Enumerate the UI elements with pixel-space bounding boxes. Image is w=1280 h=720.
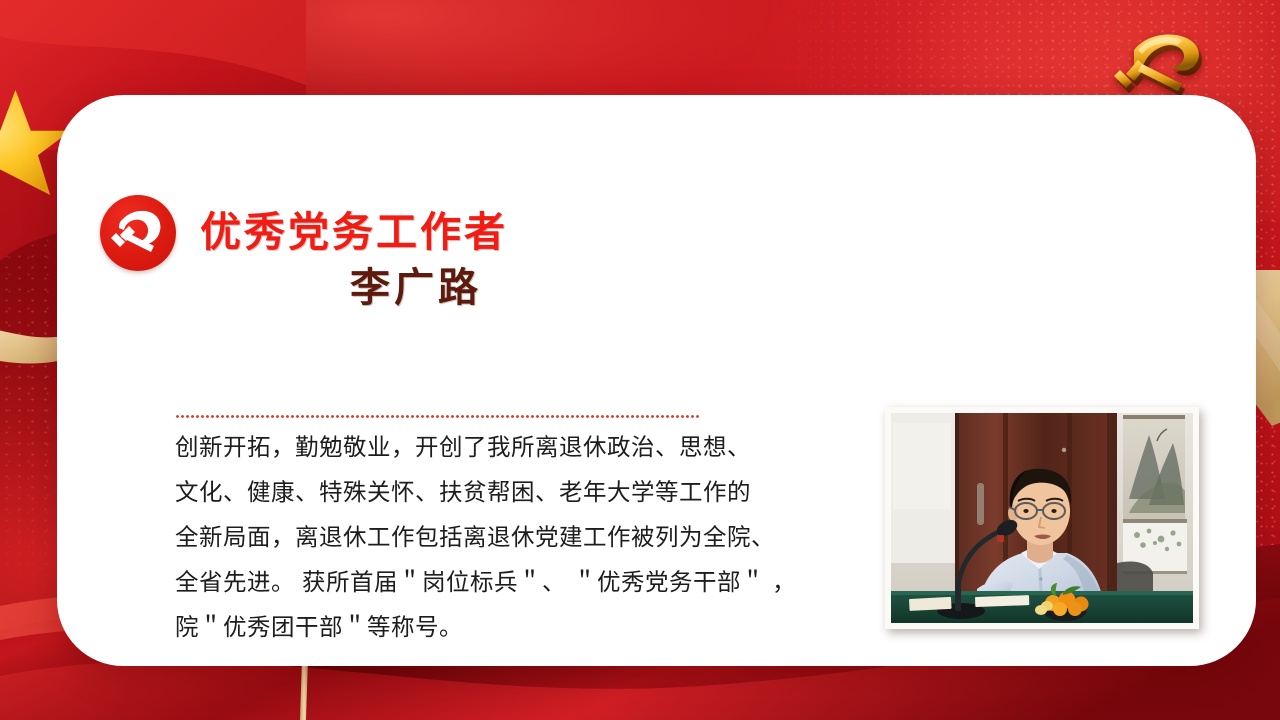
party-emblem-hammer-sickle-icon xyxy=(100,195,176,271)
body-line: 全新局面，离退休工作包括离退休党建工作被列为全院、 xyxy=(175,515,881,560)
gold-hammer-sickle-emblem-icon xyxy=(1112,26,1220,100)
person-name: 李广路 xyxy=(350,255,482,313)
content-card: 优秀党务工作者 李广路 创新开拓，勤勉敬业，开创了我所离退休政治、思想、 文化、… xyxy=(57,95,1256,666)
person-photo xyxy=(891,413,1193,623)
body-line: 文化、健康、特殊关怀、扶贫帮困、老年大学等工作的 xyxy=(175,470,881,515)
slide-root: 优秀党务工作者 李广路 创新开拓，勤勉敬业，开创了我所离退休政治、思想、 文化、… xyxy=(0,0,1280,720)
dotted-divider xyxy=(175,415,699,418)
body-text-block: 创新开拓，勤勉敬业，开创了我所离退休政治、思想、 文化、健康、特殊关怀、扶贫帮困… xyxy=(175,425,881,650)
person-photo-frame xyxy=(885,407,1199,629)
body-line: 创新开拓，勤勉敬业，开创了我所离退休政治、思想、 xyxy=(175,425,881,470)
body-line: 全省先进。 获所首届＂岗位标兵＂、 ＂优秀党务干部＂ ， xyxy=(175,560,881,605)
page-title: 优秀党务工作者 xyxy=(200,198,508,258)
body-line: 院＂优秀团干部＂等称号。 xyxy=(175,605,881,650)
card-header: 优秀党务工作者 李广路 xyxy=(100,193,720,323)
